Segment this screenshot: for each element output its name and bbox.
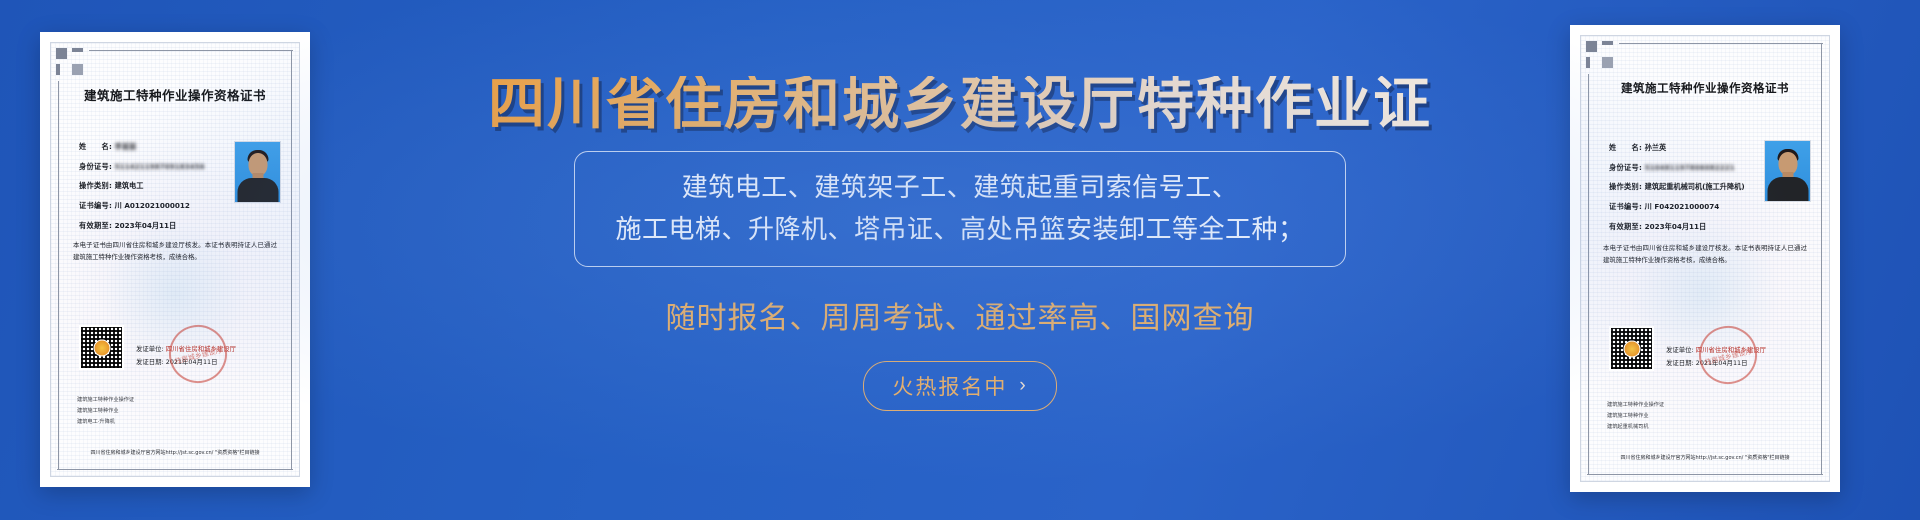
- certificate-statement-right: 本电子证书由四川省住房和城乡建设厅核发。本证书表明持证人已通过建筑施工特种作业操…: [1603, 242, 1807, 266]
- qr-code-left: [79, 325, 124, 370]
- promo-banner: 建筑施工特种作业操作资格证书 姓 名: 李丽丽 身份证号: 5114211987…: [0, 0, 1920, 520]
- note-line: 建筑电工·升降机: [77, 417, 134, 428]
- certificate-card-right: 建筑施工特种作业操作资格证书 姓 名: 孙兰英 身份证号: 5104811978…: [1570, 25, 1840, 492]
- banner-content: 四川省住房和城乡建设厅特种作业证 建筑电工、建筑架子工、建筑起重司索信号工、 施…: [330, 0, 1590, 520]
- certificate-footer-right: 四川省住房和城乡建设厅官方网站http://jst.sc.gov.cn/ "资质…: [1597, 454, 1813, 461]
- cert-right-rule: [291, 50, 292, 470]
- banner-slogan: 随时报名、周周考试、通过率高、国网查询: [666, 293, 1255, 337]
- cert-right-rule: [1821, 43, 1822, 475]
- certificate-card-left: 建筑施工特种作业操作资格证书 姓 名: 李丽丽 身份证号: 5114211987…: [40, 32, 310, 487]
- note-line: 建筑施工特种作业操作证: [1607, 400, 1664, 411]
- qr-code-right: [1609, 326, 1654, 371]
- certificate-notes-left: 建筑施工特种作业操作证 建筑施工特种作业 建筑电工·升降机: [77, 395, 134, 428]
- cert-top-rule: [89, 50, 293, 51]
- chevron-right-icon: ›: [1019, 375, 1027, 397]
- cert-left-rule: [58, 81, 59, 470]
- banner-subtitle-box: 建筑电工、建筑架子工、建筑起重司索信号工、 施工电梯、升降机、塔吊证、高处吊篮安…: [574, 151, 1345, 267]
- cert-left-rule: [1588, 74, 1589, 475]
- subtitle-line-1: 建筑电工、建筑架子工、建筑起重司索信号工、: [615, 166, 1304, 208]
- note-line: 建筑施工特种作业: [1607, 411, 1664, 422]
- certificate-notes-right: 建筑施工特种作业操作证 建筑施工特种作业 建筑起重机械司机: [1607, 400, 1664, 433]
- certificate-inner-right: 建筑施工特种作业操作资格证书 姓 名: 孙兰英 身份证号: 5104811978…: [1580, 35, 1830, 482]
- certificate-title-right: 建筑施工特种作业操作资格证书: [1581, 80, 1829, 96]
- field-valid-until-left: 有效期至: 2023年04月11日: [79, 222, 279, 231]
- cert-bottom-rule: [1587, 474, 1823, 475]
- corner-fret-ornament-icon: [1586, 41, 1620, 75]
- cert-bottom-rule: [57, 469, 293, 470]
- official-seal-left: 住房城乡建设厅: [163, 319, 233, 389]
- certificate-statement-left: 本电子证书由四川省住房和城乡建设厅核发。本证书表明持证人已通过建筑施工特种作业操…: [73, 239, 277, 263]
- certificate-footer-left: 四川省住房和城乡建设厅官方网站http://jst.sc.gov.cn/ "资质…: [67, 449, 283, 456]
- photo-torso: [237, 178, 278, 202]
- note-line: 建筑起重机械司机: [1607, 422, 1664, 433]
- certificate-title-left: 建筑施工特种作业操作资格证书: [51, 85, 299, 104]
- qr-center-logo-icon: [1623, 340, 1640, 357]
- cta-label: 火热报名中: [892, 371, 1007, 401]
- cert-top-rule: [1619, 43, 1823, 44]
- official-seal-right: 住房城乡建设厅: [1693, 320, 1763, 390]
- field-certificate-number-right: 证书编号: 川 F042021000074: [1609, 203, 1809, 212]
- subtitle-line-2: 施工电梯、升降机、塔吊证、高处吊篮安装卸工等全工种；: [615, 208, 1304, 250]
- corner-fret-ornament-icon: [56, 48, 90, 82]
- note-line: 建筑施工特种作业: [77, 406, 134, 417]
- certificate-photo-right: [1764, 140, 1811, 202]
- photo-torso: [1767, 177, 1808, 201]
- field-valid-until-right: 有效期至: 2023年04月11日: [1609, 223, 1809, 232]
- field-certificate-number-left: 证书编号: 川 A012021000012: [79, 202, 279, 211]
- enroll-now-button[interactable]: 火热报名中 ›: [863, 361, 1056, 411]
- certificate-photo-left: [234, 141, 281, 203]
- banner-title: 四川省住房和城乡建设厅特种作业证: [488, 76, 1432, 133]
- qr-center-logo-icon: [93, 339, 110, 356]
- certificate-inner-left: 建筑施工特种作业操作资格证书 姓 名: 李丽丽 身份证号: 5114211987…: [50, 42, 300, 477]
- note-line: 建筑施工特种作业操作证: [77, 395, 134, 406]
